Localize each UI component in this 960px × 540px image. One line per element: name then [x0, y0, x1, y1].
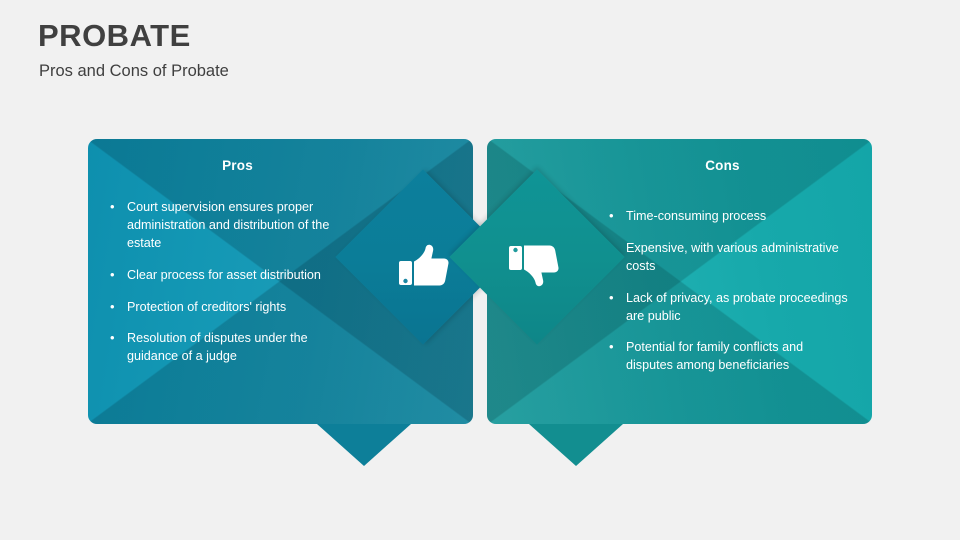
page-subtitle: Pros and Cons of Probate [39, 62, 229, 81]
list-item: Expensive, with various administrative c… [609, 240, 849, 276]
list-item: Resolution of disputes under the guidanc… [110, 330, 350, 366]
pros-heading: Pros [88, 158, 473, 173]
slide: PROBATE Pros and Cons of Probate Pros Co… [0, 0, 960, 540]
list-item: Potential for family conflicts and dispu… [609, 339, 849, 375]
pros-bottom-notch [317, 424, 411, 466]
cons-bottom-notch [529, 424, 623, 466]
cons-heading: Cons [487, 158, 872, 173]
list-item: Lack of privacy, as probate proceedings … [609, 290, 849, 326]
page-title: PROBATE [38, 18, 191, 54]
panel-divider [473, 139, 487, 424]
list-item: Protection of creditors' rights [110, 299, 350, 317]
pros-bullet-list: Court supervision ensures proper adminis… [110, 199, 350, 380]
list-item: Time-consuming process [609, 208, 849, 226]
pros-panel[interactable]: Pros Court supervision ensures proper ad… [88, 139, 473, 424]
list-item: Clear process for asset distribution [110, 267, 350, 285]
cons-panel[interactable]: Cons Time-consuming process Expensive, w… [487, 139, 872, 424]
list-item: Court supervision ensures proper adminis… [110, 199, 350, 253]
cons-bullet-list: Time-consuming process Expensive, with v… [609, 208, 849, 389]
